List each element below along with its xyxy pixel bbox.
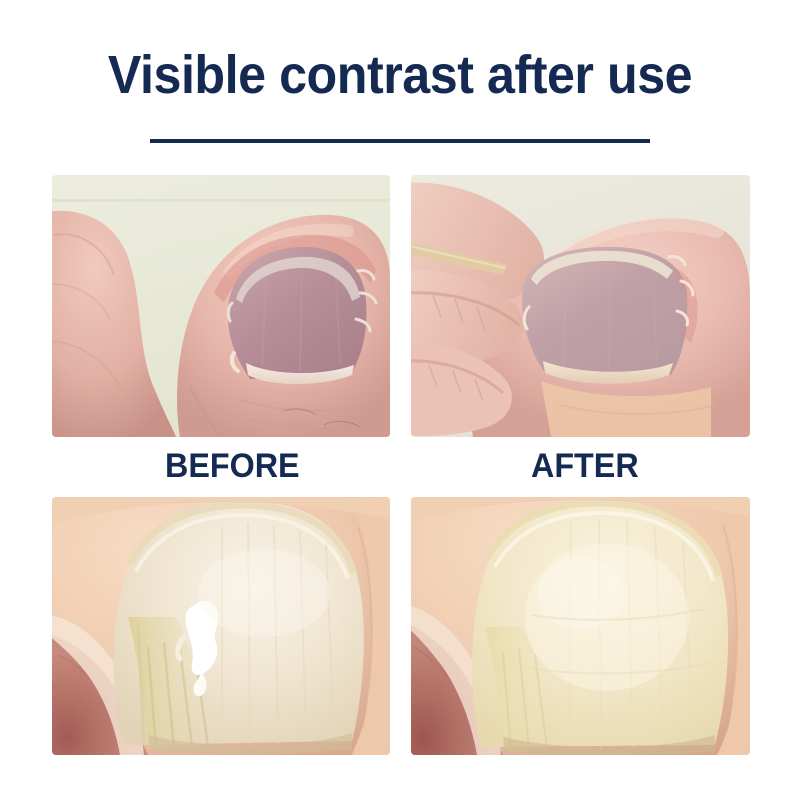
photo-after-bottom-image [411, 497, 750, 755]
title-divider [150, 139, 650, 143]
label-after: AFTER [531, 446, 639, 486]
photo-before-bottom-image [52, 497, 390, 755]
photo-before-top [52, 175, 390, 437]
photo-after-top [411, 175, 750, 437]
photo-before-bottom [52, 497, 390, 755]
photo-after-top-image [411, 175, 750, 437]
photo-before-top-image [52, 175, 390, 437]
page-title: Visible contrast after use [28, 44, 772, 106]
label-before: BEFORE [165, 446, 300, 486]
promo-page: Visible contrast after use [0, 0, 800, 800]
photo-after-bottom [411, 497, 750, 755]
